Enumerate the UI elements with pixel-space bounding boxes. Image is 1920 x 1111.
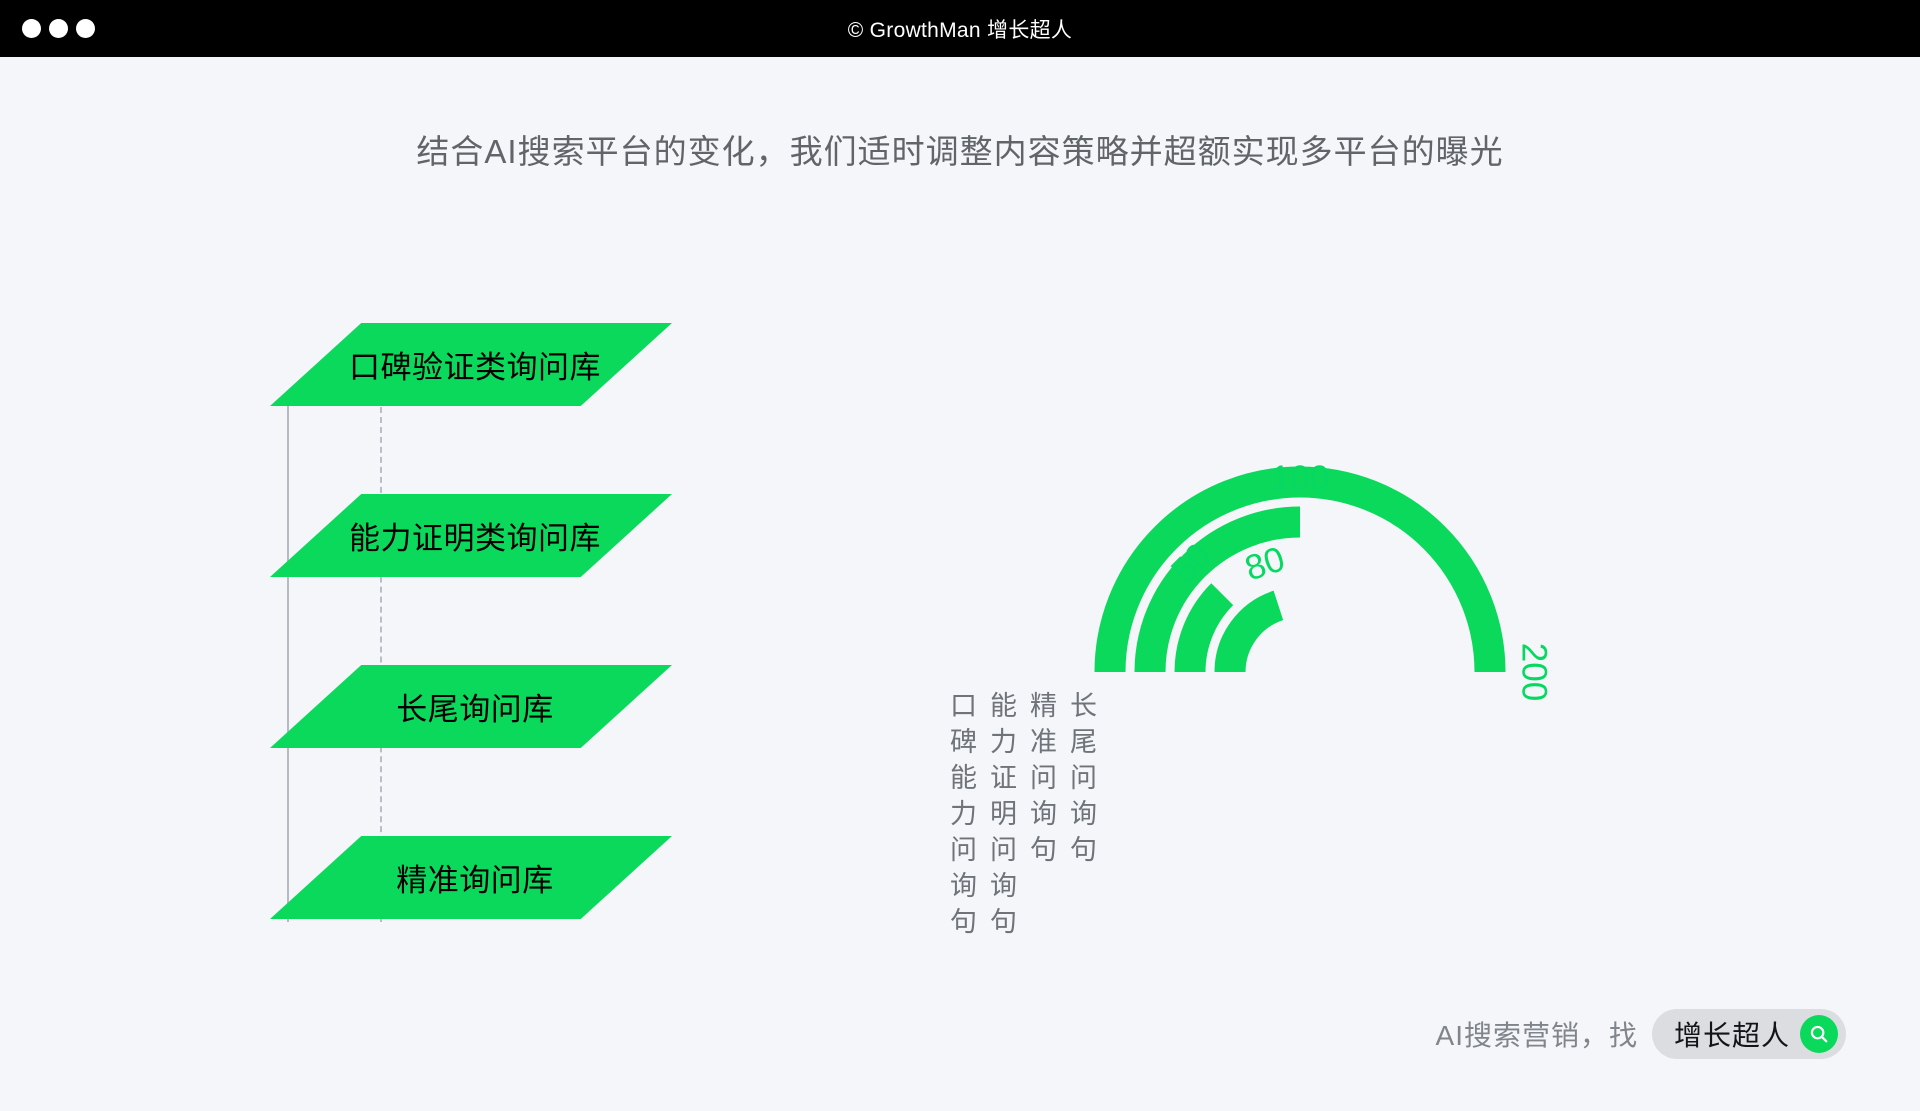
footer-branding: AI搜索营销，找 增长超人 (1436, 1009, 1846, 1059)
window-titlebar: © GrowthMan 增长超人 (0, 0, 1920, 57)
brand-pill[interactable]: 增长超人 (1652, 1009, 1846, 1059)
radial-category-label: 能力证明问询句 (988, 688, 1019, 940)
page-title: 结合AI搜索平台的变化，我们适时调整内容策略并超额实现多平台的曝光 (0, 125, 1920, 173)
funnel-plate-label: 长尾询问库 (396, 684, 554, 729)
radial-category-label: 精准问询句 (1028, 688, 1059, 940)
funnel-plate-label: 能力证明类询问库 (349, 513, 601, 558)
funnel-axis-solid-line (287, 397, 289, 922)
query-library-funnel: 口碑验证类询问库 能力证明类询问库 长尾询问库 精准询问库 (270, 300, 700, 940)
funnel-plate[interactable]: 能力证明类询问库 (270, 494, 672, 577)
footer-tagline: AI搜索营销，找 (1436, 1014, 1638, 1054)
funnel-plate[interactable]: 口碑验证类询问库 (270, 323, 672, 406)
radial-value-label: 100 (1271, 459, 1329, 498)
brand-pill-label: 增长超人 (1674, 1014, 1790, 1054)
funnel-plate-label: 口碑验证类询问库 (349, 342, 601, 387)
window-controls[interactable] (22, 0, 95, 57)
radial-arc-group (1110, 482, 1490, 672)
funnel-plate-label: 精准询问库 (396, 855, 554, 900)
radial-category-label: 口碑能力问询句 (948, 688, 979, 940)
radial-arc-band (1230, 605, 1278, 672)
window-dot-maximize[interactable] (76, 19, 95, 38)
slide-canvas: © GrowthMan 增长超人 结合AI搜索平台的变化，我们适时调整内容策略并… (0, 0, 1920, 1111)
window-dot-minimize[interactable] (49, 19, 68, 38)
funnel-plate[interactable]: 长尾询问库 (270, 665, 672, 748)
search-icon[interactable] (1800, 1015, 1838, 1053)
window-dot-close[interactable] (22, 19, 41, 38)
radial-value-label: 200 (1514, 643, 1553, 701)
radial-category-labels: 口碑能力问询句 能力证明问询句 精准问询句 长尾问询句 (948, 688, 1099, 940)
window-title: © GrowthMan 增长超人 (848, 14, 1072, 44)
radial-category-label: 长尾问询句 (1068, 688, 1099, 940)
funnel-plate[interactable]: 精准询问库 (270, 836, 672, 919)
